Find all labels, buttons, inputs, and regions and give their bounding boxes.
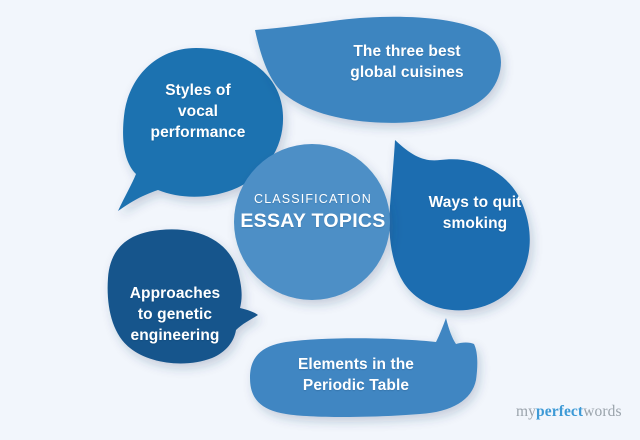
center-eyebrow-text: CLASSIFICATION: [237, 191, 389, 207]
bubble-label-genetic-engineering: Approaches to genetic engineering: [110, 283, 240, 346]
bubble-label-periodic-table: Elements in the Periodic Table: [276, 354, 436, 396]
brand-logo: myperfectwords: [516, 403, 622, 421]
brand-logo-part-perfect: perfect: [536, 403, 583, 420]
brand-logo-part-my: my: [516, 403, 536, 420]
bubble-label-vocal-performance: Styles of vocal performance: [128, 80, 268, 143]
center-label-group: CLASSIFICATION ESSAY TOPICS: [237, 191, 389, 234]
center-title-text: ESSAY TOPICS: [237, 209, 389, 234]
bubble-label-global-cuisines: The three best global cuisines: [332, 41, 482, 83]
brand-logo-part-words: words: [583, 403, 621, 420]
bubble-label-quit-smoking: Ways to quit smoking: [410, 192, 540, 234]
classification-essay-topics-infographic: Styles of vocal performance The three be…: [0, 0, 640, 440]
